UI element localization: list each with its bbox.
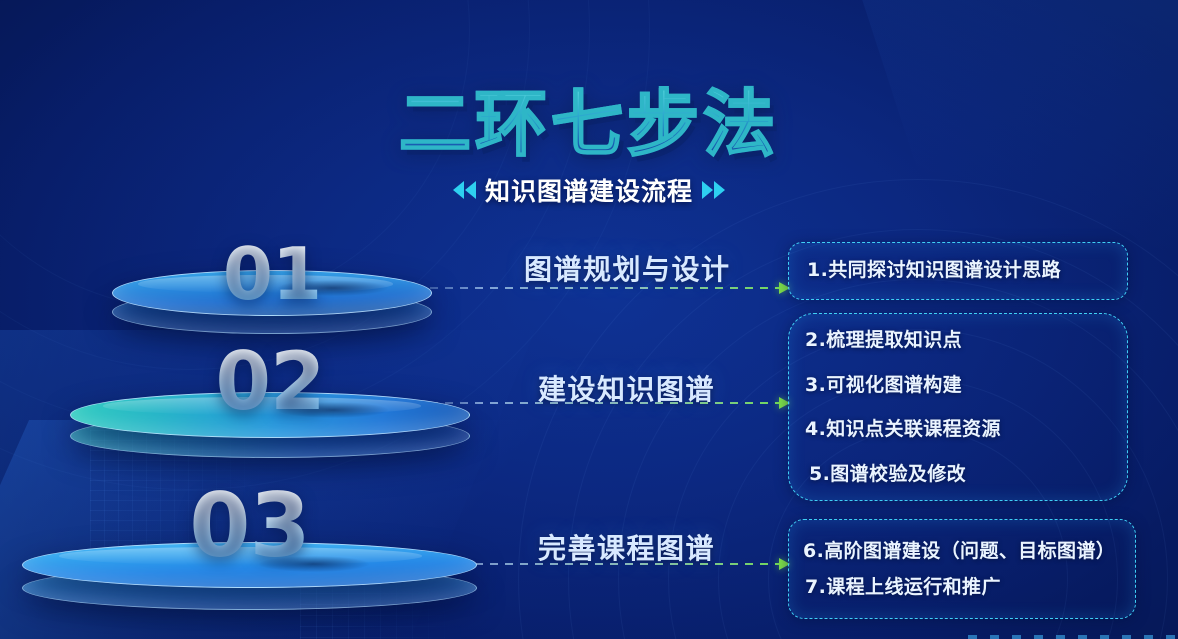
list-item: 6.高阶图谱建设（问题、目标图谱） bbox=[803, 541, 1135, 563]
stage-items-box-01[interactable]: 1.共同探讨知识图谱设计思路 bbox=[788, 242, 1128, 300]
stage-items-list-02: 2.梳理提取知识点 3.可视化图谱构建 4.知识点关联课程资源 5.图谱校验及修… bbox=[789, 314, 1127, 500]
connector-line-02 bbox=[400, 402, 779, 404]
list-item: 3.可视化图谱构建 bbox=[805, 375, 1127, 397]
stage-disc-01[interactable]: 01 bbox=[112, 240, 432, 332]
slide-header: 二环七步法 二环七步法 知识图谱建设流程 bbox=[0, 88, 1178, 208]
stage-disc-02[interactable]: 02 bbox=[70, 358, 470, 458]
connector-line-01 bbox=[400, 287, 779, 289]
stage-number-01: 01 bbox=[223, 238, 321, 310]
stage-disc-03[interactable]: 03 bbox=[22, 508, 477, 616]
page-subtitle: 知识图谱建设流程 bbox=[485, 172, 693, 208]
stage-items-box-02[interactable]: 2.梳理提取知识点 3.可视化图谱构建 4.知识点关联课程资源 5.图谱校验及修… bbox=[788, 313, 1128, 501]
stage-number-03: 03 bbox=[189, 482, 309, 570]
stage-number-02: 02 bbox=[215, 342, 324, 422]
double-triangle-right-icon bbox=[702, 181, 725, 199]
dashed-arrow-right-icon-01 bbox=[400, 281, 790, 295]
list-item: 1.共同探讨知识图谱设计思路 bbox=[807, 260, 1127, 282]
list-item: 4.知识点关联课程资源 bbox=[805, 419, 1127, 441]
stage-items-list-01: 1.共同探讨知识图谱设计思路 bbox=[789, 243, 1127, 299]
list-item: 5.图谱校验及修改 bbox=[805, 464, 1127, 486]
slide-canvas: 二环七步法 二环七步法 知识图谱建设流程 01 bbox=[0, 0, 1178, 639]
stage-items-list-03: 6.高阶图谱建设（问题、目标图谱） 7.课程上线运行和推广 bbox=[789, 520, 1135, 618]
page-title: 二环七步法 bbox=[399, 88, 779, 160]
subtitle-row: 知识图谱建设流程 bbox=[0, 172, 1178, 208]
list-item: 7.课程上线运行和推广 bbox=[803, 577, 1135, 599]
double-triangle-left-icon bbox=[453, 181, 476, 199]
list-item: 2.梳理提取知识点 bbox=[805, 330, 1127, 352]
stage-items-box-03[interactable]: 6.高阶图谱建设（问题、目标图谱） 7.课程上线运行和推广 bbox=[788, 519, 1136, 619]
title-wrapper: 二环七步法 二环七步法 bbox=[399, 88, 779, 160]
